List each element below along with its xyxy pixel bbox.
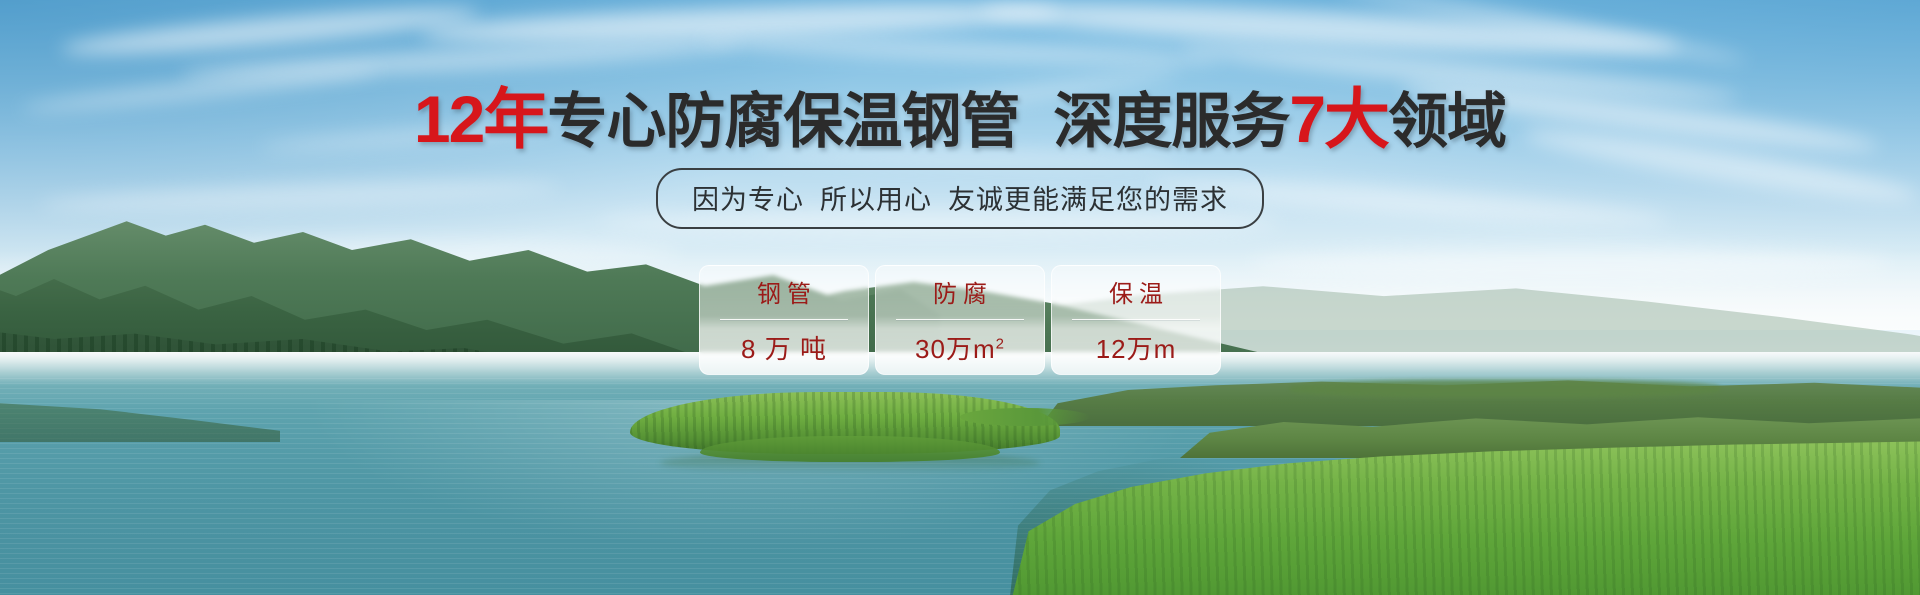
stat-card-group: 钢管 8 万 吨 防腐 30万m2 保温 12万m: [699, 265, 1221, 375]
stat-card-value: 8 万 吨: [741, 329, 827, 366]
stat-card-label: 保温: [1103, 274, 1169, 309]
stat-card-insulation: 保温 12万m: [1051, 265, 1221, 375]
stat-card-divider: [896, 319, 1024, 320]
grass-island-tail: [960, 408, 1090, 426]
subtitle-segment-1: 因为专心: [692, 185, 804, 215]
stat-card-value-superscript: 2: [996, 335, 1005, 352]
stat-card-value: 30万m2: [915, 329, 1005, 366]
subtitle-segment-3: 友诚更能满足您的需求: [948, 185, 1228, 215]
headline-service-prefix: 深度服务: [1053, 88, 1289, 155]
hero-banner: 12年专心防腐保温钢管深度服务7大领域 因为专心所以用心友诚更能满足您的需求 钢…: [0, 0, 1920, 595]
stat-card-label: 防腐: [927, 274, 993, 309]
headline-seven-highlight: 7大: [1289, 82, 1388, 156]
marsh-strip: [1290, 380, 1720, 398]
banner-headline: 12年专心防腐保温钢管深度服务7大领域: [0, 86, 1920, 152]
headline-years-highlight: 12年: [414, 82, 547, 156]
subtitle-segment-2: 所以用心: [820, 185, 932, 215]
stat-card-steel-pipe: 钢管 8 万 吨: [699, 265, 869, 375]
stat-card-value-text: 30万m: [915, 334, 996, 364]
stat-card-divider: [720, 319, 848, 320]
grass-island-lower: [700, 436, 1000, 462]
stat-card-divider: [1072, 319, 1200, 320]
headline-main-text: 专心防腐保温钢管: [547, 88, 1019, 155]
stat-card-value: 12万m: [1096, 329, 1177, 366]
headline-service-suffix: 领域: [1388, 88, 1506, 155]
stat-card-label: 钢管: [751, 274, 817, 309]
subtitle-pill: 因为专心所以用心友诚更能满足您的需求: [656, 168, 1264, 229]
stat-card-anticorrosion: 防腐 30万m2: [875, 265, 1045, 375]
